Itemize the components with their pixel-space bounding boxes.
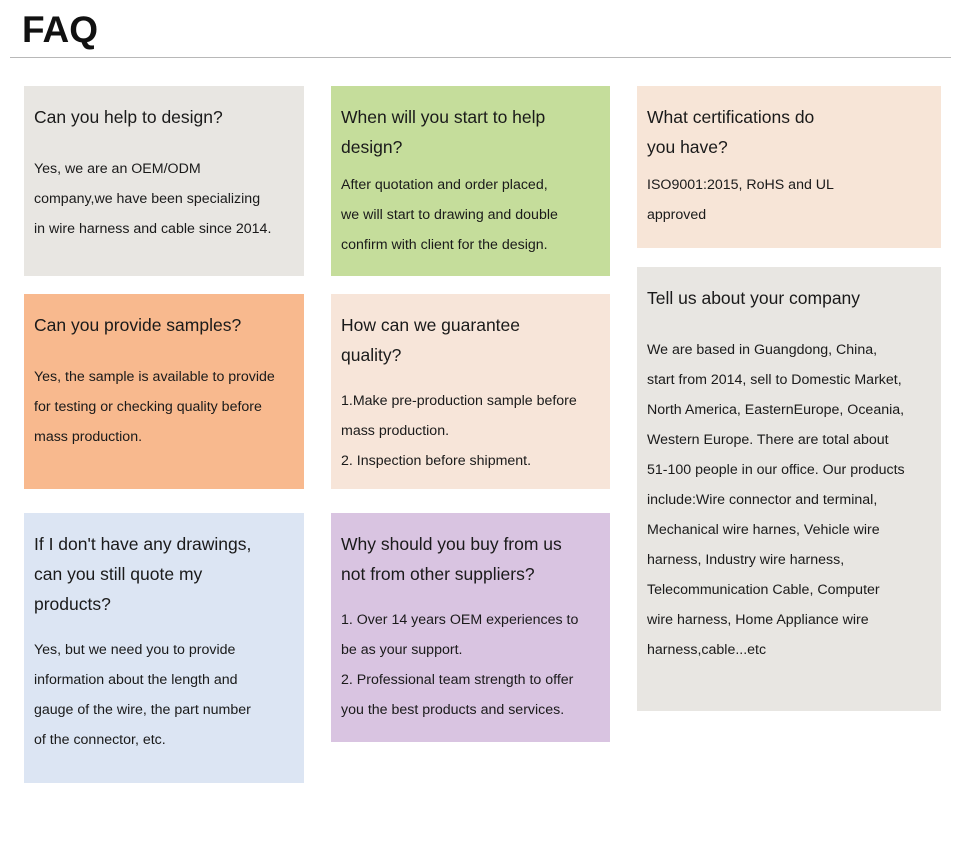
faq-answer: 1.Make pre-production sample before mass…	[341, 386, 600, 476]
faq-question: Why should you buy from us not from othe…	[341, 529, 600, 589]
faq-question: Can you help to design?	[34, 102, 294, 132]
faq-answer: ISO9001:2015, RoHS and UL approved	[647, 170, 931, 230]
faq-question: If I don't have any drawings, can you st…	[34, 529, 294, 619]
faq-answer: Yes, the sample is available to provide …	[34, 362, 294, 452]
faq-question: When will you start to help design?	[341, 102, 600, 162]
faq-card-company[interactable]: Tell us about your company We are based …	[637, 267, 941, 711]
faq-question: Tell us about your company	[647, 283, 931, 313]
faq-answer: We are based in Guangdong, China, start …	[647, 335, 931, 665]
faq-card-design[interactable]: Can you help to design? Yes, we are an O…	[24, 86, 304, 276]
faq-answer: Yes, but we need you to provide informat…	[34, 635, 294, 755]
faq-card-certifications[interactable]: What certifications do you have? ISO9001…	[637, 86, 941, 248]
faq-question: Can you provide samples?	[34, 310, 294, 340]
faq-card-quality[interactable]: How can we guarantee quality? 1.Make pre…	[331, 294, 610, 489]
faq-card-why-buy[interactable]: Why should you buy from us not from othe…	[331, 513, 610, 742]
faq-question: How can we guarantee quality?	[341, 310, 600, 370]
faq-answer: After quotation and order placed, we wil…	[341, 170, 600, 260]
faq-card-drawings[interactable]: If I don't have any drawings, can you st…	[24, 513, 304, 783]
faq-question: What certifications do you have?	[647, 102, 931, 162]
faq-card-when-start[interactable]: When will you start to help design? Afte…	[331, 86, 610, 276]
faq-answer: 1. Over 14 years OEM experiences to be a…	[341, 605, 600, 725]
faq-answer: Yes, we are an OEM/ODM company,we have b…	[34, 154, 294, 244]
faq-card-samples[interactable]: Can you provide samples? Yes, the sample…	[24, 294, 304, 489]
faq-card-grid: Can you help to design? Yes, we are an O…	[0, 0, 960, 842]
